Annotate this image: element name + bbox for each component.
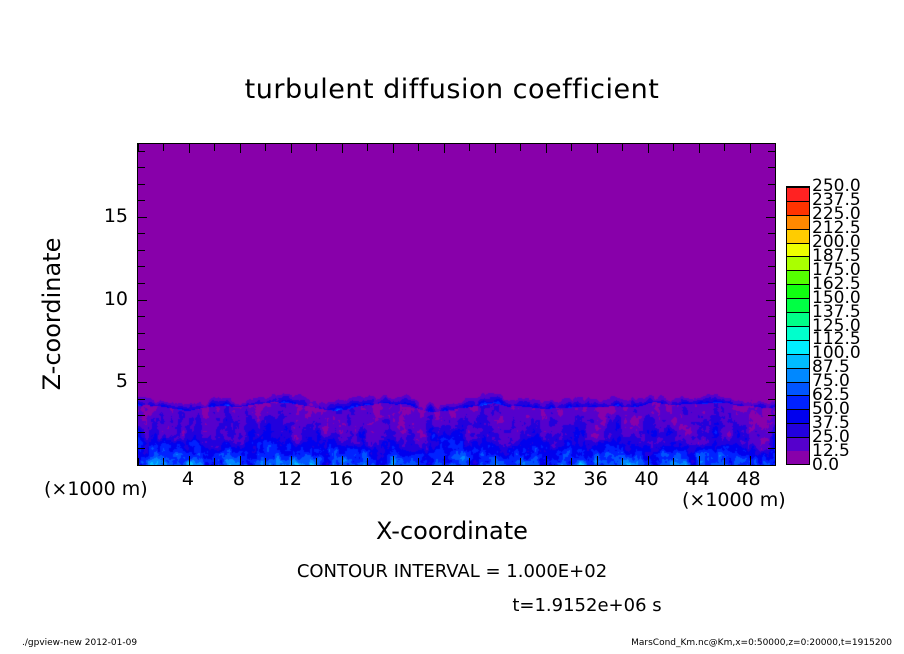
- axis-tick: [724, 458, 725, 465]
- axis-tick: [342, 144, 343, 153]
- axis-tick: [597, 456, 598, 465]
- y-axis-title: Z-coordinate: [38, 214, 66, 414]
- axis-tick: [138, 233, 145, 234]
- colorbar-band: [787, 395, 809, 409]
- axis-tick: [673, 458, 674, 465]
- axis-tick: [240, 144, 241, 153]
- axis-tick: [138, 399, 145, 400]
- colorbar-band: [787, 354, 809, 368]
- axis-tick: [768, 266, 775, 267]
- colorbar-band: [787, 382, 809, 396]
- colorbar-band: [787, 437, 809, 451]
- colorbar-band: [787, 187, 809, 201]
- x-tick-label: 44: [685, 468, 709, 490]
- axis-tick: [520, 458, 521, 465]
- axis-tick: [393, 144, 394, 153]
- x-tick-label: 24: [431, 468, 455, 490]
- axis-tick: [138, 458, 139, 465]
- turbulence-field-heatmap: [138, 144, 775, 465]
- axis-tick: [766, 382, 775, 383]
- x-tick-label: 40: [635, 468, 659, 490]
- x-tick-label: 20: [380, 468, 404, 490]
- axis-tick: [766, 217, 775, 218]
- axis-tick: [265, 144, 266, 151]
- axis-tick: [768, 233, 775, 234]
- axis-tick: [768, 448, 775, 449]
- axis-tick: [138, 349, 145, 350]
- x-tick-label: 4: [182, 468, 194, 490]
- axis-tick: [622, 458, 623, 465]
- axis-tick: [768, 349, 775, 350]
- axis-tick: [648, 144, 649, 153]
- axis-tick: [138, 316, 145, 317]
- axis-tick: [214, 144, 215, 151]
- colorbar-band: [787, 229, 809, 243]
- axis-tick: [469, 144, 470, 151]
- colorbar-band: [787, 284, 809, 298]
- axis-tick: [520, 144, 521, 151]
- axis-tick: [138, 167, 145, 168]
- axis-tick: [291, 456, 292, 465]
- axis-tick: [444, 144, 445, 153]
- axis-tick: [138, 200, 145, 201]
- axis-tick: [138, 366, 145, 367]
- x-tick-label: 8: [233, 468, 245, 490]
- axis-tick: [138, 432, 145, 433]
- axis-tick: [138, 217, 147, 218]
- axis-tick: [367, 144, 368, 151]
- colorbar-band: [787, 326, 809, 340]
- axis-tick: [393, 456, 394, 465]
- x-axis-unit-right: (×1000 m): [682, 489, 786, 511]
- axis-tick: [768, 184, 775, 185]
- axis-tick: [571, 458, 572, 465]
- axis-tick: [138, 382, 147, 383]
- axis-tick: [189, 144, 190, 153]
- axis-tick: [163, 458, 164, 465]
- axis-tick: [138, 151, 145, 152]
- colorbar-band: [787, 409, 809, 423]
- axis-tick: [316, 144, 317, 151]
- x-tick-label: 28: [482, 468, 506, 490]
- colorbar-band: [787, 201, 809, 215]
- axis-tick: [138, 300, 147, 301]
- axis-tick: [768, 465, 775, 466]
- axis-tick: [768, 200, 775, 201]
- axis-tick: [768, 250, 775, 251]
- axis-tick: [138, 184, 145, 185]
- axis-tick: [768, 151, 775, 152]
- x-tick-label: 12: [278, 468, 302, 490]
- axis-tick: [622, 144, 623, 151]
- footer-source: MarsCond_Km.nc@Km,x=0:50000,z=0:20000,t=…: [631, 638, 892, 648]
- axis-tick: [768, 415, 775, 416]
- axis-tick: [138, 283, 145, 284]
- axis-tick: [138, 250, 145, 251]
- y-tick-label: 5: [88, 370, 128, 392]
- colorbar: [786, 186, 810, 465]
- axis-tick: [418, 458, 419, 465]
- axis-tick: [495, 456, 496, 465]
- axis-tick: [265, 458, 266, 465]
- axis-tick: [766, 300, 775, 301]
- axis-tick: [469, 458, 470, 465]
- axis-tick: [495, 144, 496, 153]
- colorbar-band: [787, 298, 809, 312]
- axis-tick: [724, 144, 725, 151]
- axis-tick: [768, 399, 775, 400]
- axis-tick: [768, 333, 775, 334]
- axis-tick: [673, 144, 674, 151]
- colorbar-band: [787, 312, 809, 326]
- axis-tick: [138, 415, 145, 416]
- x-tick-label: 36: [584, 468, 608, 490]
- y-tick-label: 10: [88, 288, 128, 310]
- axis-tick: [768, 432, 775, 433]
- axis-tick: [775, 458, 776, 465]
- axis-tick: [699, 144, 700, 153]
- axis-tick: [597, 144, 598, 153]
- axis-tick: [163, 144, 164, 151]
- footer-command: ./gpview-new 2012-01-09: [22, 638, 137, 648]
- colorbar-gradient: [786, 186, 810, 465]
- contour-interval-annotation: CONTOUR INTERVAL = 1.000E+02: [0, 561, 904, 582]
- colorbar-band: [787, 368, 809, 382]
- axis-tick: [342, 456, 343, 465]
- axis-tick: [418, 144, 419, 151]
- axis-tick: [571, 144, 572, 151]
- axis-tick: [648, 456, 649, 465]
- plot-area: [137, 143, 776, 466]
- colorbar-band: [787, 451, 809, 464]
- axis-tick: [699, 456, 700, 465]
- axis-tick: [775, 144, 776, 151]
- colorbar-band: [787, 423, 809, 437]
- axis-tick: [138, 465, 145, 466]
- colorbar-band: [787, 256, 809, 270]
- colorbar-band: [787, 215, 809, 229]
- y-tick-label: 15: [88, 205, 128, 227]
- axis-tick: [291, 144, 292, 153]
- x-tick-label: 48: [736, 468, 760, 490]
- axis-tick: [750, 144, 751, 153]
- x-axis-title: X-coordinate: [0, 517, 904, 545]
- colorbar-tick-label: 250.0: [812, 176, 861, 196]
- axis-tick: [214, 458, 215, 465]
- x-axis-unit-left: (×1000 m): [44, 478, 148, 500]
- axis-tick: [444, 456, 445, 465]
- time-annotation: t=1.9152e+06 s: [0, 595, 904, 616]
- axis-tick: [138, 266, 145, 267]
- page-title: turbulent diffusion coefficient: [0, 74, 904, 105]
- axis-tick: [546, 144, 547, 153]
- axis-tick: [138, 448, 145, 449]
- x-tick-label: 32: [533, 468, 557, 490]
- axis-tick: [367, 458, 368, 465]
- axis-tick: [768, 283, 775, 284]
- colorbar-band: [787, 270, 809, 284]
- axis-tick: [240, 456, 241, 465]
- axis-tick: [768, 366, 775, 367]
- colorbar-band: [787, 340, 809, 354]
- axis-tick: [546, 456, 547, 465]
- axis-tick: [768, 316, 775, 317]
- axis-tick: [768, 167, 775, 168]
- x-tick-label: 16: [329, 468, 353, 490]
- axis-tick: [316, 458, 317, 465]
- colorbar-band: [787, 243, 809, 257]
- axis-tick: [750, 456, 751, 465]
- axis-tick: [189, 456, 190, 465]
- axis-tick: [138, 333, 145, 334]
